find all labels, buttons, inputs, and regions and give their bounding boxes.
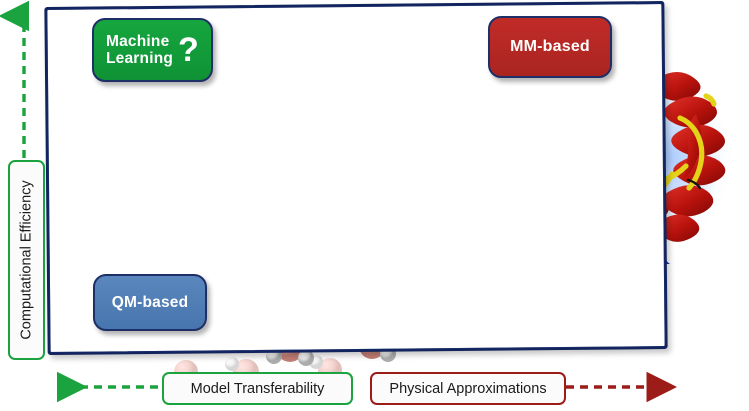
computational-efficiency-text: Computational Efficiency [19, 180, 35, 339]
ml-label-line1: Machine [106, 33, 173, 50]
qm-based-node[interactable]: QM-based [93, 274, 207, 331]
machine-learning-node[interactable]: Machine Learning ? [92, 18, 213, 82]
figure-canvas: e⁻ θ ϕ [0, 0, 749, 411]
mm-based-node[interactable]: MM-based [488, 16, 612, 78]
question-mark-icon: ? [178, 35, 199, 65]
model-transferability-label: Model Transferability [162, 372, 353, 405]
computational-efficiency-label: Computational Efficiency [8, 160, 45, 360]
physical-approximations-label: Physical Approximations [370, 372, 566, 405]
ml-label-line2: Learning [106, 50, 173, 67]
